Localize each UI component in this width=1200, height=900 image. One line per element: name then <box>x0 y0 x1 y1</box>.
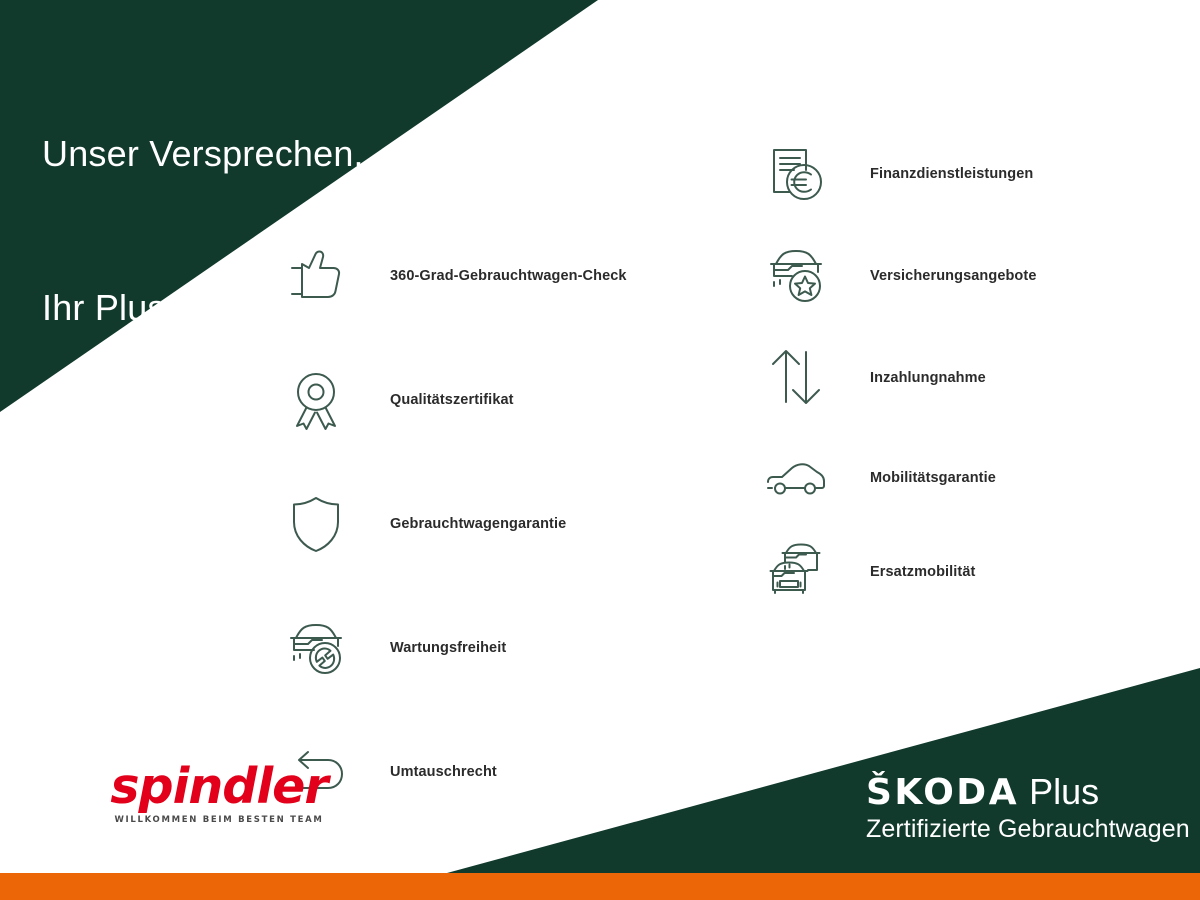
feature-label: Mobilitätsgarantie <box>870 470 996 486</box>
document-euro-icon <box>758 136 834 212</box>
car-side-icon <box>758 440 834 516</box>
feature-label: Wartungsfreiheit <box>390 640 506 656</box>
feature-item-ersatzmobilitaet: Ersatzmobilität <box>758 534 1037 610</box>
orange-accent-bar <box>0 873 1200 900</box>
feature-item-inzahlungnahme: Inzahlungnahme <box>758 340 1037 416</box>
two-cars-icon <box>758 534 834 610</box>
feature-label: Ersatzmobilität <box>870 564 975 580</box>
up-down-arrows-icon <box>758 340 834 416</box>
plus-wordmark: Plus <box>1019 771 1099 812</box>
dealer-logo: spindler WILLKOMMEN BEIM BESTEN TEAM <box>74 762 364 825</box>
feature-label: Versicherungsangebote <box>870 268 1037 284</box>
feature-column-right: Finanzdienstleistungen Versicherungsange… <box>758 136 1037 516</box>
feature-item-versicherungsangebote: Versicherungsangebote <box>758 238 1037 314</box>
feature-item-wartungsfreiheit: Wartungsfreiheit <box>278 610 627 686</box>
feature-label: Inzahlungnahme <box>870 370 986 386</box>
brand-logo: ŠKODA Plus Zertifizierte Gebrauchtwagen <box>866 772 1190 844</box>
dealer-tagline: WILLKOMMEN BEIM BESTEN TEAM <box>74 815 364 825</box>
car-wrench-icon <box>278 610 354 686</box>
feature-label: Umtauschrecht <box>390 764 497 780</box>
feature-item-360-grad-check: 360-Grad-Gebrauchtwagen-Check <box>278 238 627 314</box>
award-rosette-icon <box>278 362 354 438</box>
feature-label: Finanzdienstleistungen <box>870 166 1033 182</box>
feature-label: 360-Grad-Gebrauchtwagen-Check <box>390 268 627 284</box>
shield-icon <box>278 486 354 562</box>
feature-item-mobilitaetsgarantie: Mobilitätsgarantie <box>758 440 1037 516</box>
headline-line-1: Unser Versprechen. <box>42 128 364 179</box>
feature-item-qualitaetszertifikat: Qualitätszertifikat <box>278 362 627 438</box>
brand-logo-primary: ŠKODA Plus <box>866 772 1190 813</box>
brand-logo-subtitle: Zertifizierte Gebrauchtwagen <box>866 814 1190 844</box>
car-star-icon <box>758 238 834 314</box>
thumbs-up-icon <box>278 238 354 314</box>
promise-banner: Unser Versprechen. Ihr Plus. 360-Grad-Ge… <box>0 0 1200 900</box>
skoda-wordmark: ŠKODA <box>866 772 1019 813</box>
dealer-wordmark: spindler <box>74 762 364 811</box>
feature-label: Gebrauchtwagengarantie <box>390 516 566 532</box>
feature-item-finanzdienstleistungen: Finanzdienstleistungen <box>758 136 1037 212</box>
feature-label: Qualitätszertifikat <box>390 392 514 408</box>
feature-column-left: 360-Grad-Gebrauchtwagen-Check Qualitätsz… <box>278 238 627 618</box>
feature-item-gebrauchtwagengarantie: Gebrauchtwagengarantie <box>278 486 627 562</box>
